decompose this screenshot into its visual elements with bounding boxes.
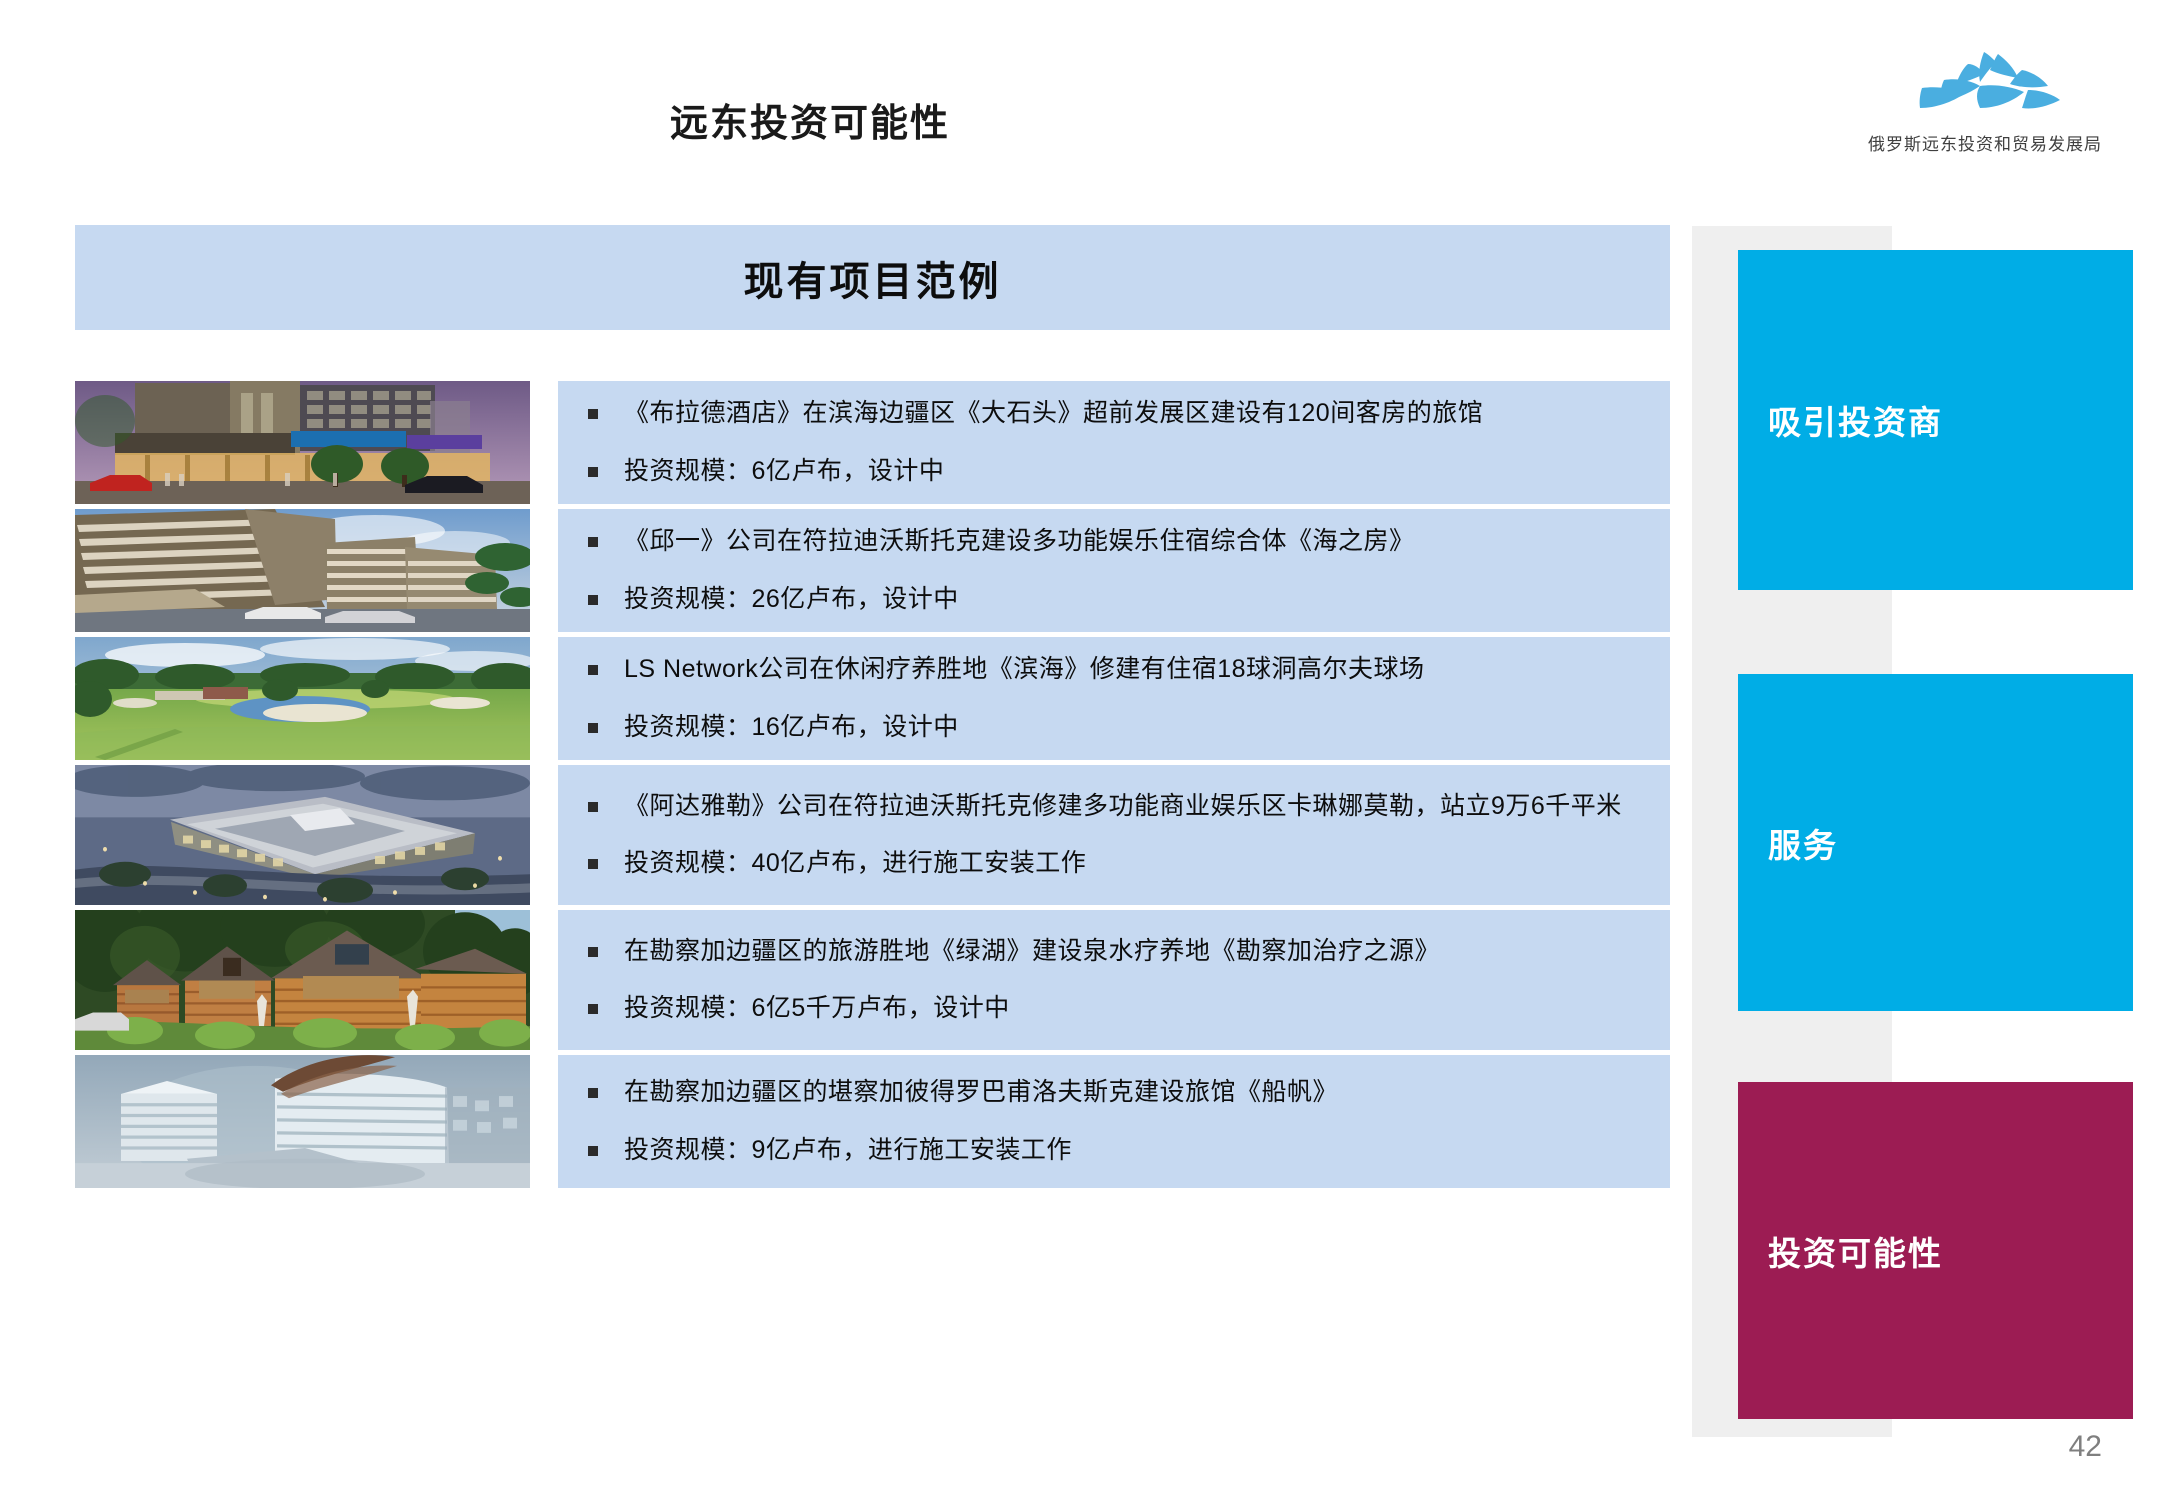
square-bullet-icon [588,595,598,605]
bullet-item: 在勘察加边疆区的旅游胜地《绿湖》建设泉水疗养地《勘察加治疗之源》 [588,934,1640,970]
bullet-text: 投资规模：9亿卢布，进行施工安装工作 [624,1133,1072,1169]
bullet-text: 投资规模：6亿卢布，设计中 [624,454,944,490]
bullet-item: 投资规模：6亿卢布，设计中 [588,454,1640,490]
project-list: 《布拉德酒店》在滨海边疆区《大石头》超前发展区建设有120间客房的旅馆投资规模：… [75,381,1670,1193]
bullet-text: 《阿达雅勒》公司在符拉迪沃斯托克修建多功能商业娱乐区卡琳娜莫勒，站立9万6千平米 [624,789,1622,825]
bullet-item: 《阿达雅勒》公司在符拉迪沃斯托克修建多功能商业娱乐区卡琳娜莫勒，站立9万6千平米 [588,789,1640,825]
organization-logo: 俄罗斯远东投资和贸易发展局 [1835,40,2135,155]
square-bullet-icon [588,467,598,477]
square-bullet-icon [588,1088,598,1098]
bullet-item: 投资规模：26亿卢布，设计中 [588,582,1640,618]
bullet-item: LS Network公司在休闲疗养胜地《滨海》修建有住宿18球洞高尔夫球场 [588,652,1640,688]
project-description: 在勘察加边疆区的旅游胜地《绿湖》建设泉水疗养地《勘察加治疗之源》投资规模：6亿5… [558,910,1670,1050]
sidebar-item-investment-opportunities[interactable]: 投资可能性 [1738,1082,2133,1419]
square-bullet-icon [588,723,598,733]
project-row: 《布拉德酒店》在滨海边疆区《大石头》超前发展区建设有120间客房的旅馆投资规模：… [75,381,1670,504]
bullet-text: 投资规模：6亿5千万卢布，设计中 [624,991,1010,1027]
square-bullet-icon [588,947,598,957]
page-number: 42 [2069,1430,2102,1464]
square-bullet-icon [588,665,598,675]
shopping-mall-aerial-thumbnail [75,765,530,905]
project-row: LS Network公司在休闲疗养胜地《滨海》修建有住宿18球洞高尔夫球场投资规… [75,637,1670,760]
bullet-item: 投资规模：16亿卢布，设计中 [588,710,1640,746]
square-bullet-icon [588,1146,598,1156]
modern-complex-thumbnail [75,509,530,632]
sidebar-item-label: 服务 [1738,819,1838,867]
bullet-text: 投资规模：26亿卢布，设计中 [624,582,959,618]
sidebar-item-label: 投资可能性 [1738,1227,1943,1275]
square-bullet-icon [588,859,598,869]
project-row: 《阿达雅勒》公司在符拉迪沃斯托克修建多功能商业娱乐区卡琳娜莫勒，站立9万6千平米… [75,765,1670,905]
golf-course-thumbnail [75,637,530,760]
square-bullet-icon [588,409,598,419]
logo-caption: 俄罗斯远东投资和贸易发展局 [1835,130,2135,155]
sidebar-item-services[interactable]: 服务 [1738,674,2133,1011]
project-description: 《布拉德酒店》在滨海边疆区《大石头》超前发展区建设有120间客房的旅馆投资规模：… [558,381,1670,504]
project-row: 在勘察加边疆区的堪察加彼得罗巴甫洛夫斯克建设旅馆《船帆》投资规模：9亿卢布，进行… [75,1055,1670,1188]
project-description: 《阿达雅勒》公司在符拉迪沃斯托克修建多功能商业娱乐区卡琳娜莫勒，站立9万6千平米… [558,765,1670,905]
sail-hotel-thumbnail [75,1055,530,1188]
section-banner: 现有项目范例 [75,225,1670,330]
bullet-item: 《邱一》公司在符拉迪沃斯托克建设多功能娱乐住宿综合体《海之房》 [588,524,1640,560]
sidebar-item-attract-investors[interactable]: 吸引投资商 [1738,250,2133,590]
bullet-item: 《布拉德酒店》在滨海边疆区《大石头》超前发展区建设有120间客房的旅馆 [588,396,1640,432]
hotel-night-render-thumbnail [75,381,530,504]
bullet-text: 《布拉德酒店》在滨海边疆区《大石头》超前发展区建设有120间客房的旅馆 [624,396,1483,432]
square-bullet-icon [588,1004,598,1014]
bullet-text: 在勘察加边疆区的堪察加彼得罗巴甫洛夫斯克建设旅馆《船帆》 [624,1075,1338,1111]
sidebar-item-label: 吸引投资商 [1738,396,1943,444]
section-banner-title: 现有项目范例 [744,249,1002,307]
project-description: LS Network公司在休闲疗养胜地《滨海》修建有住宿18球洞高尔夫球场投资规… [558,637,1670,760]
lotus-bird-logo-icon [1910,40,2060,126]
project-row: 《邱一》公司在符拉迪沃斯托克建设多功能娱乐住宿综合体《海之房》投资规模：26亿卢… [75,509,1670,632]
square-bullet-icon [588,802,598,812]
bullet-text: 《邱一》公司在符拉迪沃斯托克建设多功能娱乐住宿综合体《海之房》 [624,524,1415,560]
bullet-text: 在勘察加边疆区的旅游胜地《绿湖》建设泉水疗养地《勘察加治疗之源》 [624,934,1440,970]
page-title: 远东投资可能性 [670,92,950,147]
bullet-item: 投资规模：9亿卢布，进行施工安装工作 [588,1133,1640,1169]
project-row: 在勘察加边疆区的旅游胜地《绿湖》建设泉水疗养地《勘察加治疗之源》投资规模：6亿5… [75,910,1670,1050]
project-description: 《邱一》公司在符拉迪沃斯托克建设多功能娱乐住宿综合体《海之房》投资规模：26亿卢… [558,509,1670,632]
bullet-item: 投资规模：6亿5千万卢布，设计中 [588,991,1640,1027]
square-bullet-icon [588,537,598,547]
bullet-text: LS Network公司在休闲疗养胜地《滨海》修建有住宿18球洞高尔夫球场 [624,652,1425,688]
bullet-item: 在勘察加边疆区的堪察加彼得罗巴甫洛夫斯克建设旅馆《船帆》 [588,1075,1640,1111]
bullet-text: 投资规模：16亿卢布，设计中 [624,710,959,746]
bullet-item: 投资规模：40亿卢布，进行施工安装工作 [588,846,1640,882]
project-description: 在勘察加边疆区的堪察加彼得罗巴甫洛夫斯克建设旅馆《船帆》投资规模：9亿卢布，进行… [558,1055,1670,1188]
log-cabins-thumbnail [75,910,530,1050]
bullet-text: 投资规模：40亿卢布，进行施工安装工作 [624,846,1086,882]
